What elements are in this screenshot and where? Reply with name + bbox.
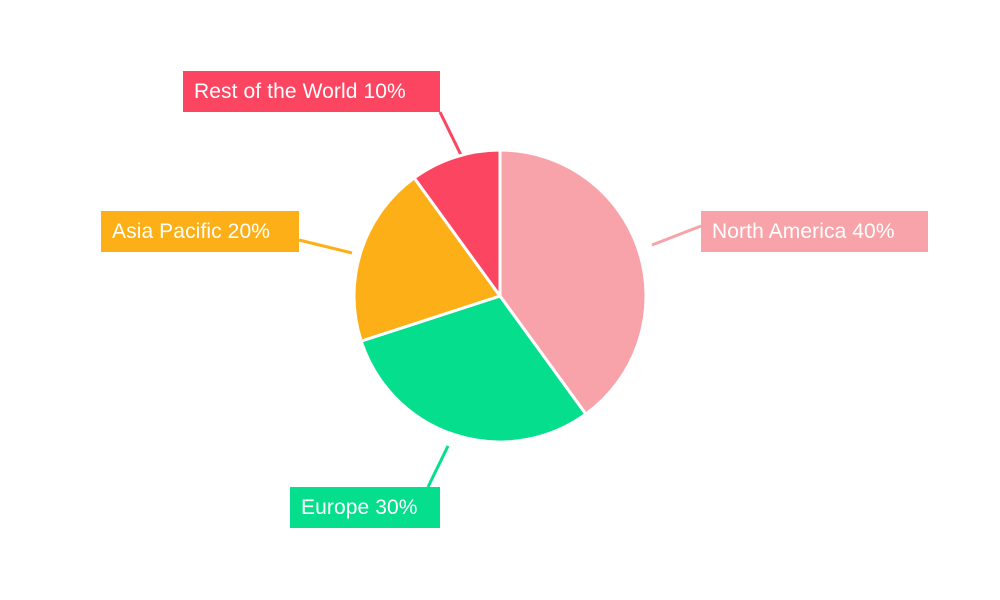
slice-label-asia-pacific[interactable]: Asia Pacific 20% xyxy=(101,211,299,252)
slice-leader-line xyxy=(440,112,461,155)
pie-chart-figure: North America 40% Europe 30% Asia Pacifi… xyxy=(0,0,1000,600)
pie-slice-group xyxy=(354,150,646,442)
slice-label-europe[interactable]: Europe 30% xyxy=(290,487,440,528)
slice-leader-line xyxy=(652,226,701,245)
slice-label-text: North America 40% xyxy=(712,221,895,242)
slice-leader-line xyxy=(428,446,448,487)
slice-label-rest-of-the-world[interactable]: Rest of the World 10% xyxy=(183,71,440,112)
slice-label-text: Rest of the World 10% xyxy=(194,81,406,102)
pie-chart-canvas xyxy=(0,0,1000,600)
slice-label-text: Europe 30% xyxy=(301,497,418,518)
slice-label-text: Asia Pacific 20% xyxy=(112,221,270,242)
slice-leader-line xyxy=(299,240,352,253)
slice-label-north-america[interactable]: North America 40% xyxy=(701,211,928,252)
